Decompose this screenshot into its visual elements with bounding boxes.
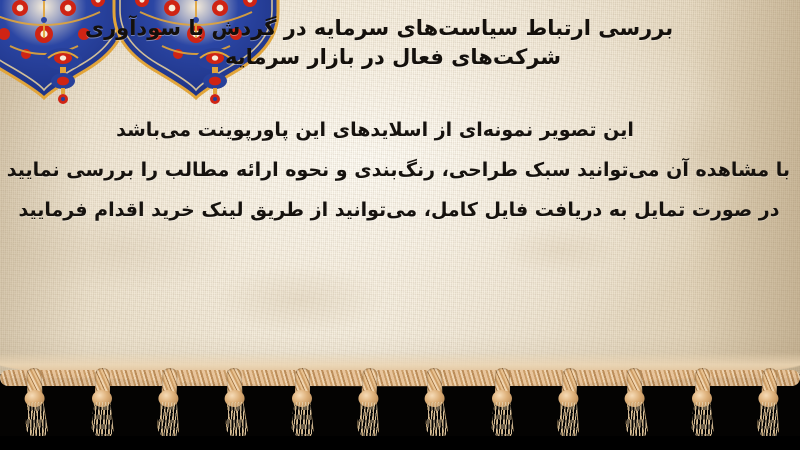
slide-bottom-edge: [0, 436, 800, 450]
slide-body-line-1: این تصویر نمونه‌ای از اسلایدهای این پاور…: [8, 110, 790, 150]
fringe-twisted-rope: [0, 370, 800, 386]
slide-canvas: بررسی ارتباط سیاست‌های سرمایه در گردش با…: [0, 0, 800, 450]
slide-title: بررسی ارتباط سیاست‌های سرمایه در گردش با…: [8, 14, 778, 72]
slide-title-line-1: بررسی ارتباط سیاست‌های سرمایه در گردش با…: [8, 14, 778, 43]
slide-body-text: این تصویر نمونه‌ای از اسلایدهای این پاور…: [8, 110, 790, 230]
slide-title-line-2: شرکت‌های فعال در بازار سرمایه: [8, 43, 778, 72]
slide-body-line-2: با مشاهده آن می‌توانید سبک طراحی، رنگ‌بن…: [8, 150, 790, 190]
slide-body-line-3: در صورت تمایل به دریافت فایل کامل، می‌تو…: [8, 190, 790, 230]
